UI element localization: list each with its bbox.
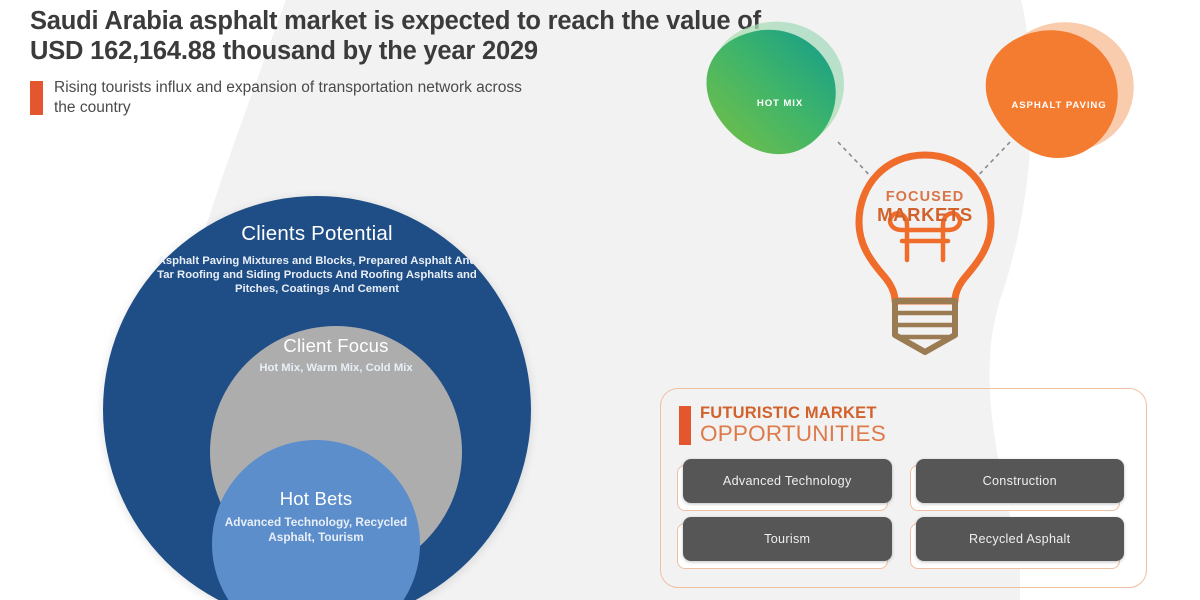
lightbulb-shape [845,145,1005,360]
opportunity-cell: Construction [916,459,1125,503]
circle-inner-body: Advanced Technology, Recycled Asphalt, T… [221,515,411,545]
concentric-circles-diagram: Clients Potential Asphalt Paving Mixture… [103,196,531,600]
header-block: Saudi Arabia asphalt market is expected … [30,6,770,118]
opportunities-accent-bar [679,406,691,445]
circle-middle-body: Hot Mix, Warm Mix, Cold Mix [221,361,451,375]
subheadline-row: Rising tourists influx and expansion of … [30,78,770,118]
opportunity-card[interactable]: Advanced Technology [683,459,892,503]
opportunity-card[interactable]: Recycled Asphalt [916,517,1125,561]
opportunity-card[interactable]: Construction [916,459,1125,503]
opportunities-header: FUTURISTIC MARKET OPPORTUNITIES [679,405,1146,445]
circle-outer-body: Asphalt Paving Mixtures and Blocks, Prep… [152,254,482,297]
badge-asphalt-paving: ASPHALT PAVING [975,12,1143,162]
opportunities-title-line2: OPPORTUNITIES [700,422,886,445]
page-title: Saudi Arabia asphalt market is expected … [30,6,770,66]
lightbulb-icon: FOCUSED MARKETS [845,145,1005,360]
badge-hot-mix-label: HOT MIX [700,98,860,109]
futuristic-opportunities-panel: FUTURISTIC MARKET OPPORTUNITIES Advanced… [660,388,1147,588]
badge-hot-mix: HOT MIX [700,10,860,160]
infographic-canvas: Saudi Arabia asphalt market is expected … [0,0,1200,600]
opportunities-grid: Advanced Technology Construction Tourism… [683,459,1124,561]
opportunities-title-line1: FUTURISTIC MARKET [700,405,886,422]
badge-hot-mix-shape [700,10,860,160]
badge-asphalt-paving-label: ASPHALT PAVING [975,100,1143,111]
circle-middle-title: Client Focus [283,335,388,357]
badge-asphalt-paving-shape [975,12,1143,162]
subheadline: Rising tourists influx and expansion of … [54,78,534,118]
opportunity-card[interactable]: Tourism [683,517,892,561]
opportunity-cell: Advanced Technology [683,459,892,503]
opportunity-cell: Tourism [683,517,892,561]
accent-bar [30,81,43,115]
opportunity-cell: Recycled Asphalt [916,517,1125,561]
circle-outer-title: Clients Potential [241,222,393,246]
opportunities-titles: FUTURISTIC MARKET OPPORTUNITIES [700,405,886,445]
circle-inner-title: Hot Bets [280,488,353,510]
